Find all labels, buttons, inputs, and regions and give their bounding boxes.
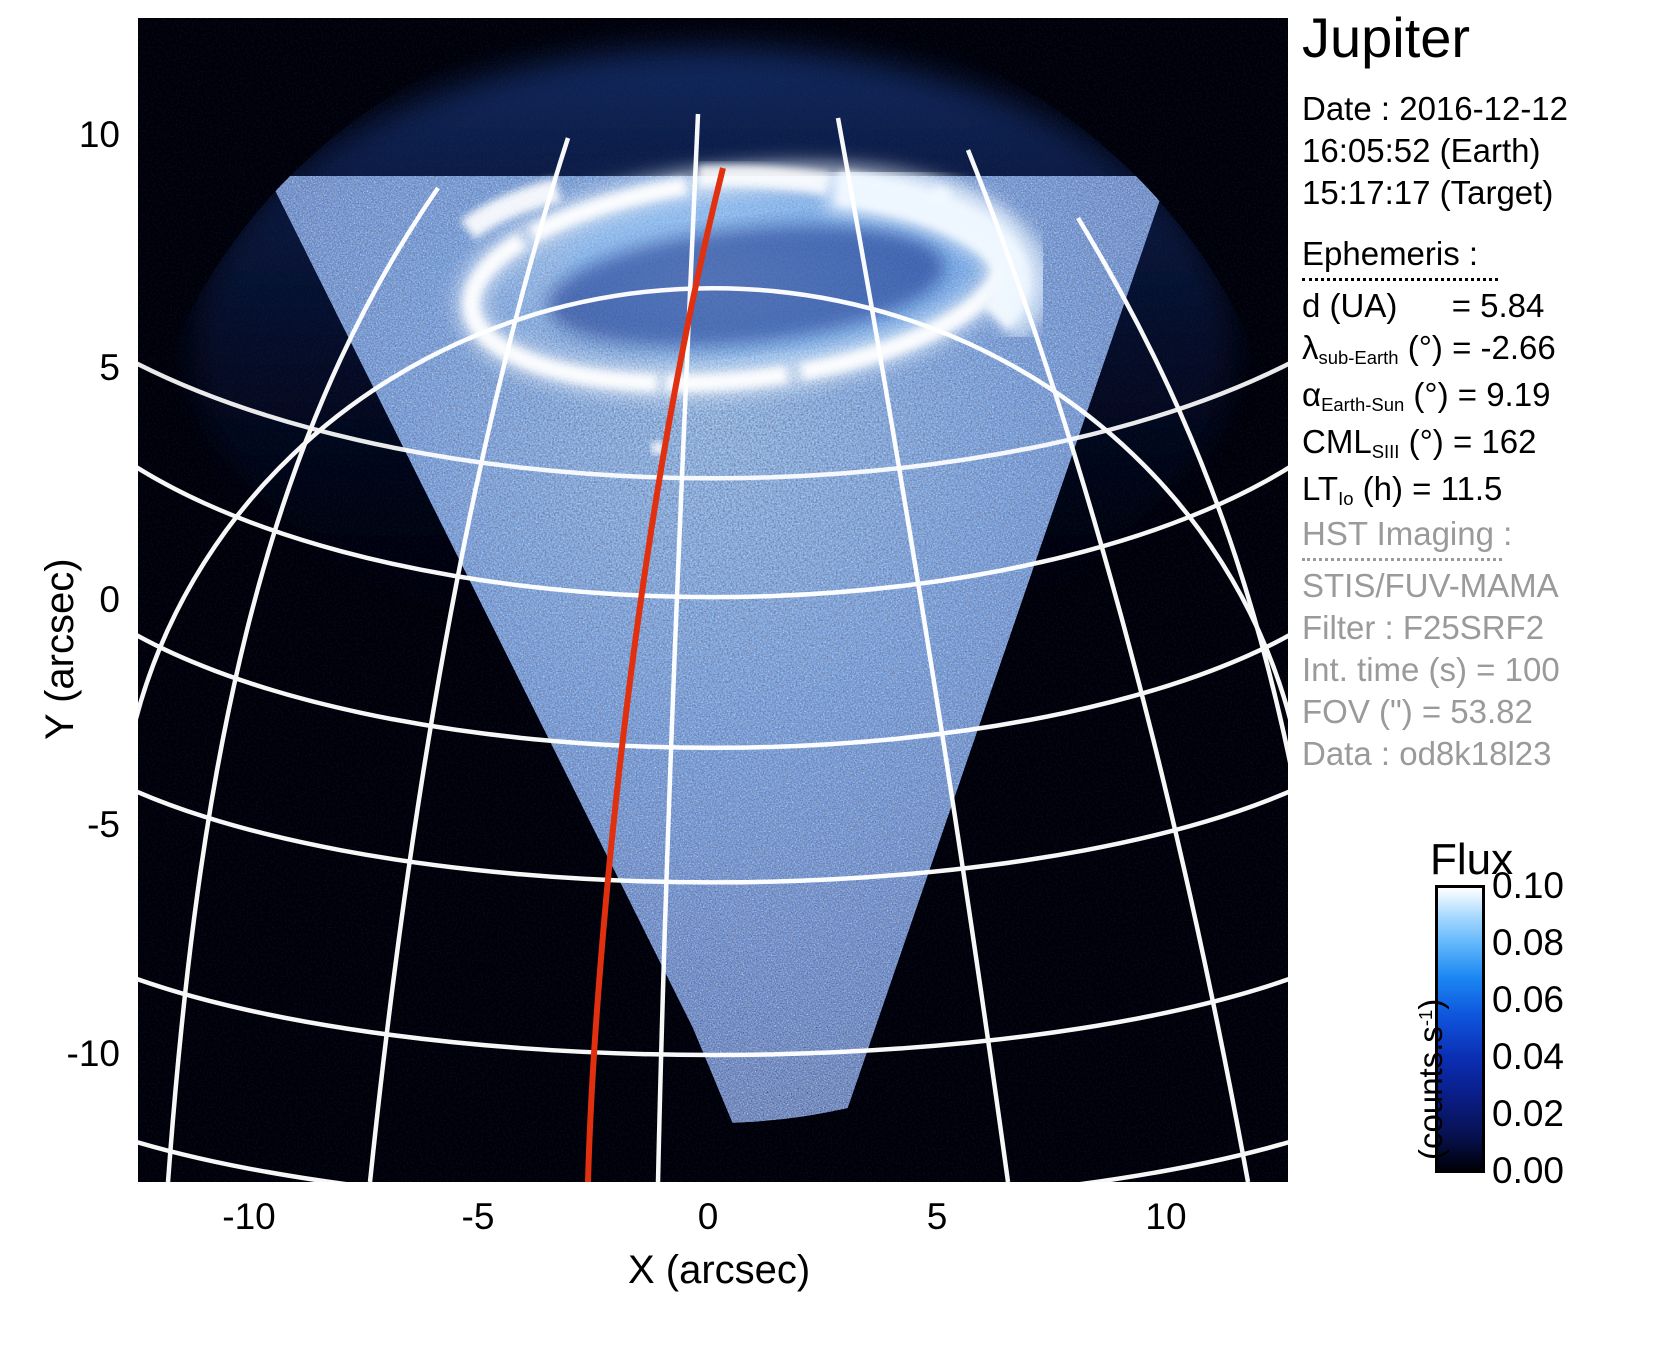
imaging-int-time: Int. time (s) = 100 bbox=[1302, 649, 1560, 691]
ephemeris-row-phase-angle: αEarth-Sun (°) = 9.19 bbox=[1302, 374, 1556, 421]
ephemeris-label-lt: LT bbox=[1302, 470, 1338, 507]
ephemeris-value-lambda: = -2.66 bbox=[1452, 329, 1556, 366]
info-panel: Jupiter Date : 2016-12-12 16:05:52 (Eart… bbox=[1302, 0, 1676, 1367]
x-tick-10: 10 bbox=[1086, 1198, 1246, 1235]
ephemeris-unit-alpha: (°) bbox=[1413, 376, 1448, 413]
ephemeris-sub-cml: SIII bbox=[1372, 441, 1400, 462]
ephemeris-header: Ephemeris : bbox=[1302, 233, 1556, 275]
y-tick-10: 10 bbox=[0, 116, 120, 153]
colorbar-unit-text: (counts.s bbox=[1412, 1026, 1449, 1160]
ephemeris-underline bbox=[1302, 278, 1498, 281]
ephemeris-label-alpha: α bbox=[1302, 376, 1321, 413]
imaging-data-id: Data : od8k18l23 bbox=[1302, 733, 1560, 775]
imaging-header: HST Imaging : bbox=[1302, 513, 1560, 555]
imaging-underline bbox=[1302, 558, 1502, 561]
ephemeris-unit-cml: (°) bbox=[1409, 423, 1444, 460]
x-tick-0: 0 bbox=[628, 1198, 788, 1235]
page-title: Jupiter bbox=[1302, 10, 1470, 66]
ephemeris-row-sub-earth-lat: λsub-Earth (°) = -2.66 bbox=[1302, 327, 1556, 374]
ephemeris-unit-lambda: (°) bbox=[1408, 329, 1443, 366]
x-tick-neg10: -10 bbox=[169, 1198, 329, 1235]
imaging-filter: Filter : F25SRF2 bbox=[1302, 607, 1560, 649]
observation-block: Date : 2016-12-12 16:05:52 (Earth) 15:17… bbox=[1302, 88, 1568, 214]
colorbar-tick-006: 0.06 bbox=[1492, 981, 1564, 1018]
colorbar-tick-004: 0.04 bbox=[1492, 1038, 1564, 1075]
y-tick-neg5: -5 bbox=[0, 806, 120, 843]
colorbar-unit-paren: ) bbox=[1412, 999, 1449, 1010]
ephemeris-label-distance: d (UA) bbox=[1302, 287, 1397, 324]
ephemeris-value-lt: = 11.5 bbox=[1412, 470, 1502, 507]
colorbar-tick-002: 0.02 bbox=[1492, 1095, 1564, 1132]
ephemeris-row-io-local-time: LTIo (h) = 11.5 bbox=[1302, 468, 1556, 515]
observation-time-earth: 16:05:52 (Earth) bbox=[1302, 130, 1568, 172]
ephemeris-block: Ephemeris : d (UA) = 5.84 λsub-Earth (°)… bbox=[1302, 233, 1556, 515]
y-axis-label: Y (arcsec) bbox=[38, 558, 83, 740]
ephemeris-label-lambda: λ bbox=[1302, 329, 1319, 366]
imaging-instrument: STIS/FUV-MAMA bbox=[1302, 565, 1560, 607]
colorbar-tick-008: 0.08 bbox=[1492, 924, 1564, 961]
ephemeris-label-cml: CML bbox=[1302, 423, 1372, 460]
ephemeris-row-cml: CMLSIII (°) = 162 bbox=[1302, 421, 1556, 468]
colorbar-unit-exponent: -1 bbox=[1415, 1010, 1436, 1026]
observation-date: Date : 2016-12-12 bbox=[1302, 88, 1568, 130]
colorbar-unit-label: (counts.s-1) bbox=[1412, 999, 1450, 1160]
ephemeris-value-cml: = 162 bbox=[1453, 423, 1537, 460]
colorbar-tick-010: 0.10 bbox=[1492, 867, 1564, 904]
x-axis-label: X (arcsec) bbox=[628, 1248, 788, 1293]
image-plot-panel bbox=[138, 18, 1288, 1182]
observation-time-target: 15:17:17 (Target) bbox=[1302, 172, 1568, 214]
imaging-fov: FOV (") = 53.82 bbox=[1302, 691, 1560, 733]
ephemeris-row-distance: d (UA) = 5.84 bbox=[1302, 285, 1556, 327]
ephemeris-value-distance: = 5.84 bbox=[1452, 287, 1545, 324]
ephemeris-sub-lambda: sub-Earth bbox=[1319, 347, 1399, 368]
y-tick-neg10: -10 bbox=[0, 1035, 120, 1072]
y-tick-5: 5 bbox=[0, 349, 120, 386]
ephemeris-sub-lt: Io bbox=[1338, 488, 1353, 509]
jupiter-fuv-image bbox=[138, 18, 1288, 1182]
ephemeris-sub-alpha: Earth-Sun bbox=[1321, 394, 1404, 415]
ephemeris-unit-lt: (h) bbox=[1363, 470, 1403, 507]
x-tick-neg5: -5 bbox=[398, 1198, 558, 1235]
colorbar-tick-000: 0.00 bbox=[1492, 1152, 1564, 1189]
x-tick-5: 5 bbox=[857, 1198, 1017, 1235]
imaging-block: HST Imaging : STIS/FUV-MAMA Filter : F25… bbox=[1302, 513, 1560, 775]
ephemeris-value-alpha: = 9.19 bbox=[1458, 376, 1551, 413]
